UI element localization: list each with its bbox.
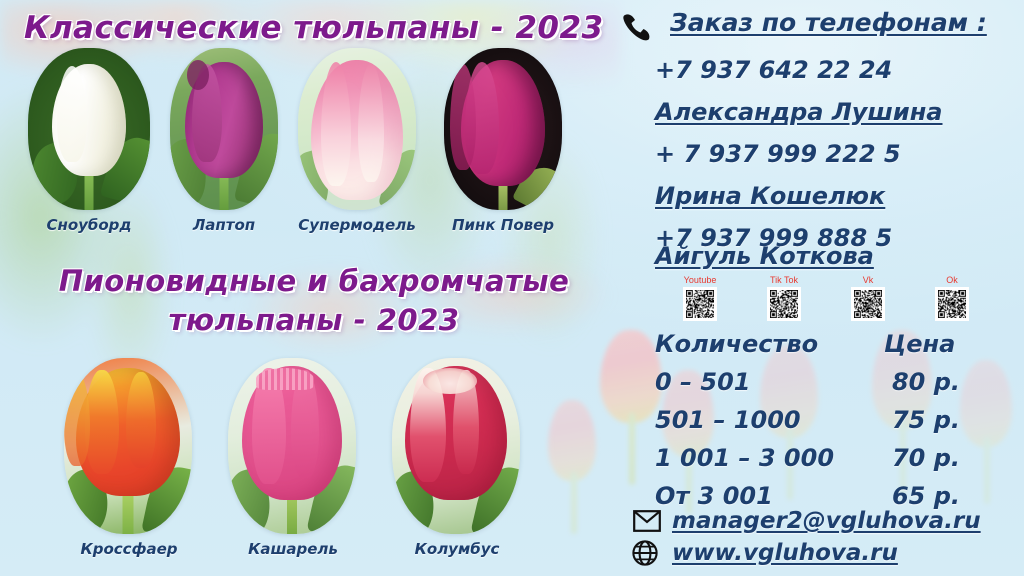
qr-label-tiktok: Tik Tok — [756, 275, 812, 286]
qr-label-youtube: Youtube — [672, 275, 728, 286]
globe-icon — [632, 540, 658, 566]
flower-photo-crossfire[interactable] — [64, 358, 192, 534]
qr-block-youtube[interactable]: Youtube — [672, 275, 728, 321]
flower-caption-columbus: Колумбус — [384, 540, 530, 558]
phone-number-1[interactable]: +7 937 642 22 24 — [655, 56, 892, 84]
page-title-classic: Классические тюльпаны - 2023 — [24, 10, 604, 46]
qr-block-tiktok[interactable]: Tik Tok — [756, 275, 812, 321]
price-row-quantity-3: 1 001 – 3 000 — [655, 444, 834, 472]
price-header-price: Цена — [884, 330, 955, 358]
contact-name-2: Ирина Кошелюк — [655, 182, 885, 210]
page-title-peony: Пионовидные и бахромчатые тюльпаны - 202… — [44, 262, 584, 340]
qr-block-vk[interactable]: Vk — [840, 275, 896, 321]
flower-photo-cacharel[interactable] — [228, 358, 356, 534]
qr-block-ok[interactable]: Ok — [924, 275, 980, 321]
qr-code-youtube[interactable] — [683, 287, 717, 321]
qr-label-vk: Vk — [840, 275, 896, 286]
flower-caption-snowboard: Сноуборд — [28, 216, 150, 234]
price-row-price-3: 70 р. — [870, 444, 960, 472]
email-link[interactable]: manager2@vgluhova.ru — [672, 508, 981, 534]
contact-name-1: Александра Лушина — [655, 98, 943, 126]
flower-caption-supermodel: Супермодель — [290, 216, 424, 234]
flower-caption-crossfire: Кроссфаер — [56, 540, 202, 558]
flower-photo-pink-power[interactable] — [444, 48, 562, 210]
price-row-price-2: 75 р. — [870, 406, 960, 434]
phone-number-2[interactable]: + 7 937 999 222 5 — [655, 140, 901, 168]
price-row-quantity-4: От 3 001 — [655, 482, 773, 510]
price-row-quantity-1: 0 – 501 — [655, 368, 751, 396]
qr-code-tiktok[interactable] — [767, 287, 801, 321]
qr-code-ok[interactable] — [935, 287, 969, 321]
flower-photo-snowboard[interactable] — [28, 48, 150, 210]
flower-caption-pink-power: Пинк Повер — [436, 216, 570, 234]
price-row-price-1: 80 р. — [870, 368, 960, 396]
phone-icon — [622, 12, 654, 42]
flower-caption-laptop: Лаптоп — [166, 216, 282, 234]
flower-photo-supermodel[interactable] — [298, 48, 416, 210]
website-link[interactable]: www.vgluhova.ru — [672, 540, 898, 566]
price-row-quantity-2: 501 – 1000 — [655, 406, 801, 434]
mail-icon — [633, 510, 661, 532]
qr-label-ok: Ok — [924, 275, 980, 286]
flower-caption-cacharel: Кашарель — [220, 540, 366, 558]
order-by-phone-title: Заказ по телефонам : — [670, 8, 987, 37]
flower-photo-laptop[interactable] — [170, 48, 278, 210]
qr-code-vk[interactable] — [851, 287, 885, 321]
price-header-quantity: Количество — [655, 330, 818, 358]
price-row-price-4: 65 р. — [870, 482, 960, 510]
flower-photo-columbus[interactable] — [392, 358, 520, 534]
contact-name-3: Айгуль Коткова — [655, 242, 874, 270]
